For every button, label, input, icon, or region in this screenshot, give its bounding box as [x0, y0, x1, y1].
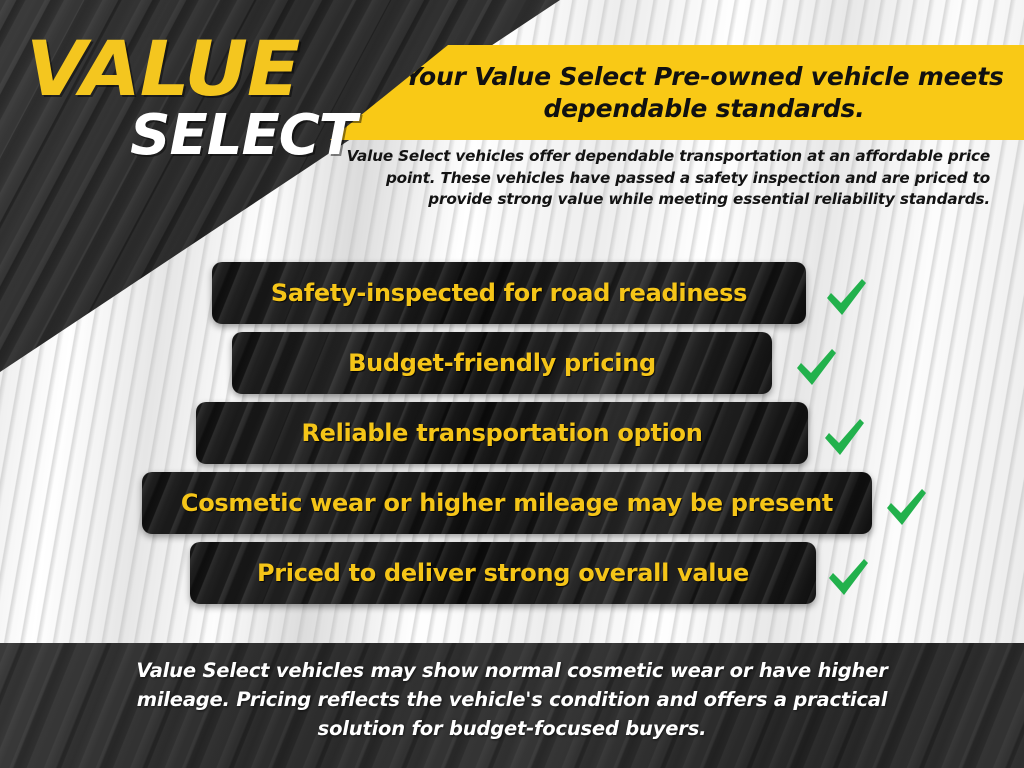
feature-label: Safety-inspected for road readiness [253, 281, 765, 305]
feature-label: Priced to deliver strong overall value [239, 561, 767, 585]
check-icon [820, 271, 872, 323]
brand-logo: VALUE SELECT [26, 34, 356, 164]
feature-row: Budget-friendly pricing [0, 332, 1024, 402]
feature-bar: Priced to deliver strong overall value [190, 542, 816, 604]
feature-row: Safety-inspected for road readiness [0, 262, 1024, 332]
brand-logo-select: SELECT [26, 108, 356, 164]
value-select-infographic: VALUE SELECT Your Value Select Pre-owned… [0, 0, 1024, 768]
check-icon [880, 481, 932, 533]
feature-bar: Safety-inspected for road readiness [212, 262, 806, 324]
feature-list: Safety-inspected for road readiness Budg… [0, 262, 1024, 612]
headline-banner: Your Value Select Pre-owned vehicle meet… [330, 45, 1024, 140]
feature-label: Reliable transportation option [283, 421, 720, 445]
check-icon [818, 411, 870, 463]
description-paragraph: Value Select vehicles offer dependable t… [322, 146, 990, 211]
footer-disclaimer-bar: Value Select vehicles may show normal co… [0, 643, 1024, 768]
footer-disclaimer-text: Value Select vehicles may show normal co… [102, 657, 922, 744]
brand-logo-value: VALUE [26, 34, 366, 104]
feature-row: Priced to deliver strong overall value [0, 542, 1024, 612]
feature-bar: Cosmetic wear or higher mileage may be p… [142, 472, 872, 534]
feature-bar: Reliable transportation option [196, 402, 808, 464]
check-icon [790, 341, 842, 393]
feature-row: Cosmetic wear or higher mileage may be p… [0, 472, 1024, 542]
check-icon [822, 551, 874, 603]
feature-row: Reliable transportation option [0, 402, 1024, 472]
feature-bar: Budget-friendly pricing [232, 332, 772, 394]
feature-label: Cosmetic wear or higher mileage may be p… [163, 491, 851, 515]
headline-text: Your Value Select Pre-owned vehicle meet… [330, 61, 1024, 125]
feature-label: Budget-friendly pricing [330, 351, 674, 375]
